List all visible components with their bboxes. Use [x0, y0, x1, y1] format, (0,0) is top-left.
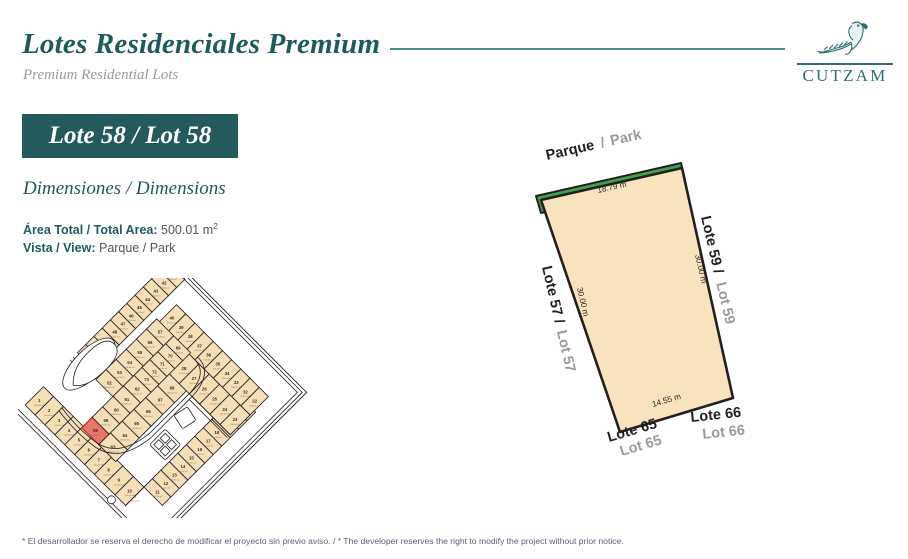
site-plan-lot-number-39: 39: [179, 325, 184, 330]
site-plan-lot-number-25: 25: [212, 397, 217, 402]
site-plan-lot-area-47: 500.00 m2: [118, 328, 129, 330]
lot-title-text: Lote 58 / Lot 58: [22, 114, 238, 158]
view-value: Parque / Park: [99, 241, 175, 255]
amenity-court: [174, 407, 196, 429]
site-plan-lot-area-13: 500.00 m2: [169, 479, 180, 481]
site-plan-lot-number-52: 52: [107, 380, 112, 385]
site-plan-lot-area-54: 500.00 m2: [125, 367, 136, 369]
site-plan-lot-number-48: 48: [112, 330, 117, 335]
site-plan-lot-area-71: 500.00 m2: [157, 368, 168, 370]
header-divider: [390, 48, 785, 50]
site-plan-lot-number-11: 11: [155, 489, 160, 494]
site-plan-svg[interactable]: 1500.00 m22500.00 m23500.00 m24500.00 m2…: [18, 278, 318, 518]
site-plan-lot-number-35: 35: [215, 362, 220, 367]
disclaimer-text: * El desarrollador se reserva el derecho…: [22, 536, 624, 546]
park-label-en: Park: [609, 127, 644, 150]
site-plan-lot-area-61: 500.00 m2: [122, 404, 133, 406]
logo-wordmark: CUTZAM: [795, 66, 895, 86]
park-label-sep: /: [599, 135, 606, 151]
total-area-label: Área Total / Total Area:: [23, 223, 158, 237]
site-plan-lot-number-56: 56: [148, 340, 153, 345]
site-plan-lot-area-67: 500.00 m2: [155, 404, 166, 406]
site-plan-lot-area-59: 500.00 m2: [101, 425, 112, 427]
site-plan-lot-number-38: 38: [188, 334, 193, 339]
site-plan-lot-number-58: 58: [93, 428, 99, 433]
site-plan-lot-area-60: 500.00 m2: [111, 414, 122, 416]
page-subtitle: Premium Residential Lots: [23, 67, 178, 84]
site-plan-lot-area-62: 500.00 m2: [132, 393, 143, 395]
site-plan-map[interactable]: 1500.00 m22500.00 m23500.00 m24500.00 m2…: [18, 278, 318, 518]
site-plan-rotation-group: 1500.00 m22500.00 m23500.00 m24500.00 m2…: [18, 278, 307, 518]
site-plan-lot-area-66: 500.00 m2: [144, 416, 155, 418]
site-plan-lot-number-17: 17: [206, 438, 211, 443]
site-plan-lot-area-65: 500.00 m2: [132, 428, 143, 430]
site-plan-lot-number-59: 59: [104, 418, 109, 423]
dimensions-heading: Dimensiones / Dimensions: [23, 178, 226, 200]
site-plan-lot-number-18: 18: [214, 430, 219, 435]
site-plan-lot-area-x: 500.00 m2: [130, 501, 141, 503]
site-plan-lot-number-45: 45: [137, 305, 142, 310]
site-plan-lot-area-68: 500.00 m2: [167, 393, 178, 395]
site-plan-lot-area-55: 500.00 m2: [135, 357, 146, 359]
site-plan-lot-number-33: 33: [234, 380, 239, 385]
view-row: Vista / View: Parque / Park: [23, 241, 175, 255]
neighbor-left-es: Lote 57 /: [538, 264, 567, 325]
site-plan-lot-area-11: 500.00 m2: [152, 496, 163, 498]
site-plan-lot-area-23: 500.00 m2: [230, 424, 241, 426]
site-plan-lot-number-43: 43: [154, 289, 159, 294]
area-unit-superscript: 2: [213, 221, 218, 231]
site-plan-lot-number-42: 42: [162, 280, 167, 285]
site-plan-lot-number-15: 15: [189, 455, 194, 460]
site-plan-lot-area-22: 500.00 m2: [250, 405, 261, 407]
site-plan-lot-number-68: 68: [170, 386, 175, 391]
site-plan-lot-area-43: 500.00 m2: [151, 295, 162, 297]
site-plan-lot-number-53: 53: [117, 370, 122, 375]
total-area-row: Área Total / Total Area: 500.01 m2: [23, 221, 218, 237]
site-plan-lot-number-44: 44: [145, 297, 150, 302]
site-plan-lot-number-12: 12: [163, 481, 168, 486]
site-plan-lot-area-58: 500.00 m2: [91, 435, 102, 437]
neighbor-br-en: Lot 66: [702, 422, 746, 442]
site-plan-lot-number-55: 55: [137, 350, 142, 355]
site-plan-lot-area-44: 500.00 m2: [143, 304, 154, 306]
site-plan-lot-area-12: 500.00 m2: [161, 488, 172, 490]
brand-logo: CUTZAM: [795, 18, 895, 88]
site-plan-lot-number-66: 66: [146, 409, 151, 414]
site-plan-lot-number-62: 62: [135, 386, 140, 391]
site-plan-lot-number-64: 64: [122, 433, 127, 438]
page-title: Lotes Residenciales Premium: [22, 28, 380, 61]
site-plan-lot-area-53: 500.00 m2: [115, 377, 126, 379]
site-plan-lot-number-57: 57: [158, 330, 163, 335]
site-plan-parcels: 1500.00 m22500.00 m23500.00 m24500.00 m2…: [25, 278, 287, 518]
site-plan-lot-area-64: 500.00 m2: [120, 440, 131, 442]
site-plan-lot-number-40: 40: [169, 316, 174, 321]
lot-detail-svg: Parque / Park 18.79 m 30.00 m 30.00 m 14…: [505, 125, 805, 455]
site-plan-lot-area-52: 500.00 m2: [105, 387, 116, 389]
site-plan-lot-number-16: 16: [197, 447, 202, 452]
site-plan-lot-number-34: 34: [225, 371, 230, 376]
view-label: Vista / View:: [23, 241, 96, 255]
lot-title-bar: Lote 58 / Lot 58: [22, 114, 238, 158]
site-plan-lot-number-22: 22: [252, 398, 257, 403]
site-plan-lot-area-17: 500.00 m2: [203, 445, 214, 447]
site-plan-lot-number-27: 27: [192, 376, 197, 381]
site-plan-lot-number-36: 36: [206, 353, 211, 358]
site-plan-lot-area-46: 500.00 m2: [126, 320, 137, 322]
site-plan-lot-number-54: 54: [127, 360, 132, 365]
site-plan-lot-number-46: 46: [129, 313, 134, 318]
site-plan-lot-number-47: 47: [121, 322, 126, 327]
site-plan-lot-number-13: 13: [172, 472, 177, 477]
lot-factsheet-page: Lotes Residenciales Premium Premium Resi…: [0, 0, 908, 559]
site-plan-lot-number-24: 24: [222, 407, 227, 412]
lot-detail-diagram: Parque / Park 18.79 m 30.00 m 30.00 m 14…: [505, 125, 805, 455]
site-plan-lot-area-18: 500.00 m2: [212, 437, 223, 439]
site-plan-lot-area-15: 500.00 m2: [186, 462, 197, 464]
site-plan-lot-area-72: 500.00 m2: [150, 376, 161, 378]
site-plan-lot-number-60: 60: [114, 407, 119, 412]
site-plan-lot-area-69: 500.00 m2: [173, 352, 184, 354]
site-plan-lot-area-70: 500.00 m2: [165, 360, 176, 362]
site-plan-lot-number-28: 28: [182, 366, 187, 371]
site-plan-lot-number-37: 37: [197, 343, 202, 348]
site-plan-lot-number-26: 26: [202, 386, 207, 391]
heron-bird-icon: [795, 18, 895, 64]
site-plan-lot-area-42: 500.00 m2: [159, 287, 170, 289]
logo-divider: [797, 63, 893, 65]
site-plan-lot-area-14: 500.00 m2: [178, 471, 189, 473]
site-plan-lot-number-10: 10: [127, 488, 132, 493]
site-plan-lot-number-65: 65: [134, 421, 139, 426]
site-plan-lot-area-48: 500.00 m2: [110, 337, 121, 339]
site-plan-lot-number-61: 61: [124, 397, 129, 402]
site-plan-lot-area-57: 500.00 m2: [155, 337, 166, 339]
lot-parcel-shape: [541, 168, 733, 432]
site-plan-lot-area-16: 500.00 m2: [195, 454, 206, 456]
site-plan-lot-number-14: 14: [180, 464, 185, 469]
site-plan-lot-number-23: 23: [233, 417, 238, 422]
site-plan-lot-number-32: 32: [243, 389, 248, 394]
site-plan-lot-number-67: 67: [158, 397, 163, 402]
site-plan-lot-area-41: 500.00 m2: [167, 279, 178, 281]
park-label-es: Parque: [544, 137, 595, 163]
site-plan-lot-area-56: 500.00 m2: [145, 347, 156, 349]
total-area-value: 500.01 m: [161, 223, 213, 237]
site-plan-lot-area-45: 500.00 m2: [135, 312, 146, 314]
site-plan-lot-number-69: 69: [176, 346, 181, 351]
neighbor-left-en: Lot 57: [553, 329, 578, 374]
